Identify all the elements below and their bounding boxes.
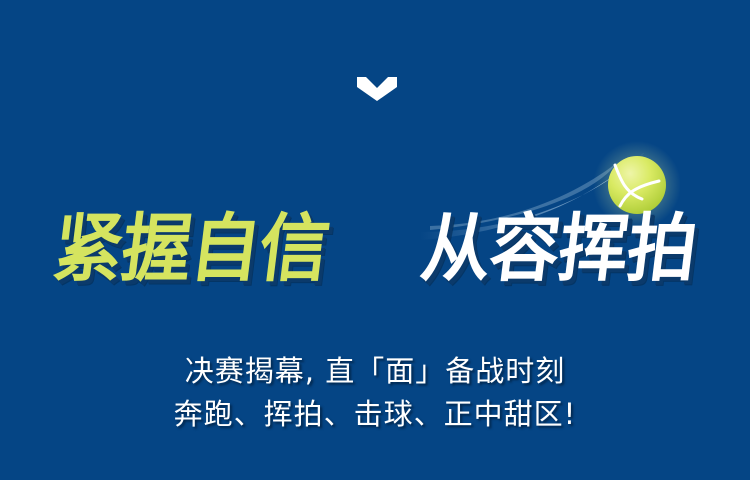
headline: 紧握自信 从容挥拍 xyxy=(0,207,750,291)
subtitle-line-1: 决赛揭幕, 直「面」备战时刻 xyxy=(0,350,750,393)
promo-banner: 紧握自信 从容挥拍 决赛揭幕, 直「面」备战时刻 奔跑、挥拍、击球、正中甜区! xyxy=(0,0,750,480)
headline-part-green: 紧握自信 xyxy=(49,207,334,291)
headline-part-white: 从容挥拍 xyxy=(416,207,701,291)
chevron-down-icon xyxy=(357,77,397,101)
subtitle-block: 决赛揭幕, 直「面」备战时刻 奔跑、挥拍、击球、正中甜区! xyxy=(0,350,750,436)
subtitle-line-2: 奔跑、挥拍、击球、正中甜区! xyxy=(0,393,750,436)
